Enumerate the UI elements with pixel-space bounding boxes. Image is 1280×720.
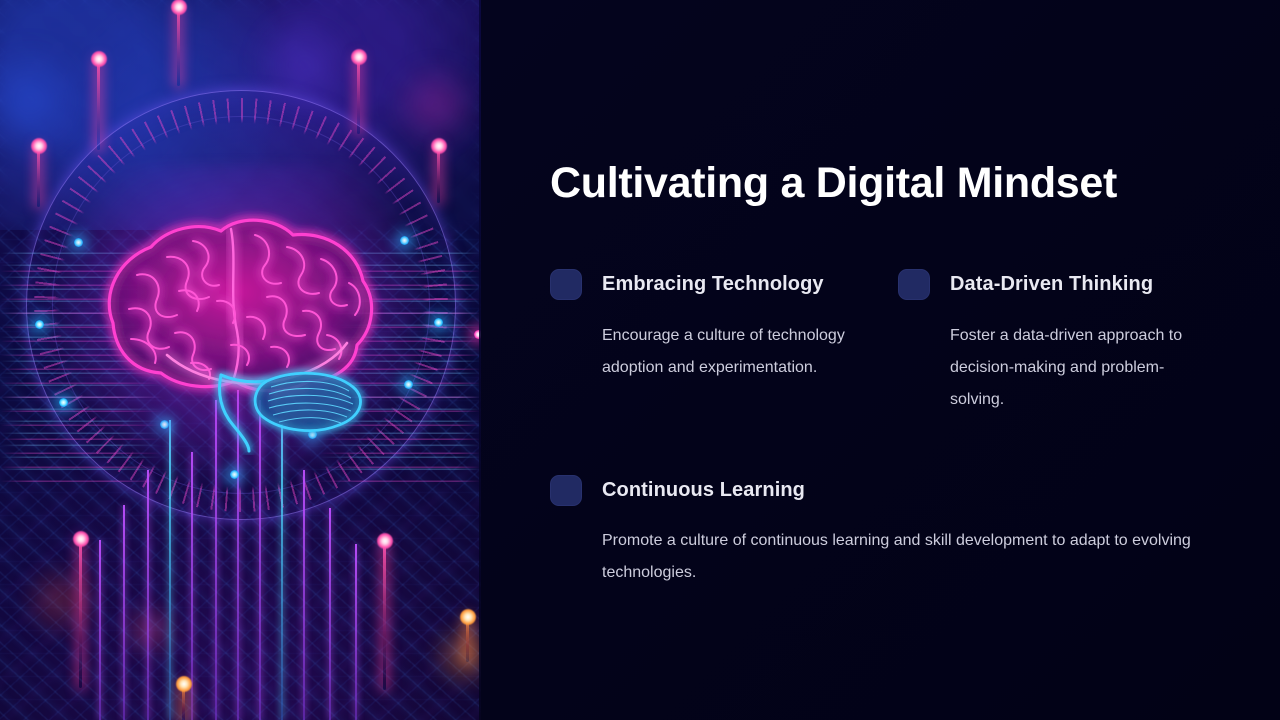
feature-card-data-driven-thinking[interactable]: Data-Driven Thinking Foster a data-drive… xyxy=(898,268,1214,416)
brain-illustration xyxy=(71,205,411,455)
card-header: Embracing Technology xyxy=(550,268,866,300)
light-pillar-warm xyxy=(466,616,469,662)
rounded-square-icon xyxy=(898,269,930,300)
feature-card-continuous-learning[interactable]: Continuous Learning Promote a culture of… xyxy=(550,474,1214,589)
card-header: Continuous Learning xyxy=(550,474,1214,506)
card-row-2: Continuous Learning Promote a culture of… xyxy=(550,474,1250,589)
light-pillar xyxy=(177,6,180,86)
card-title: Continuous Learning xyxy=(602,478,805,502)
card-header: Data-Driven Thinking xyxy=(898,268,1214,300)
slide: Cultivating a Digital Mindset Embracing … xyxy=(0,0,1280,720)
light-pillar xyxy=(383,540,386,690)
bokeh-blob xyxy=(20,560,100,640)
rounded-square-icon xyxy=(550,269,582,300)
feature-card-embracing-technology[interactable]: Embracing Technology Encourage a culture… xyxy=(550,268,866,416)
light-pillar xyxy=(79,538,82,688)
card-description: Promote a culture of continuous learning… xyxy=(602,525,1214,589)
card-title: Data-Driven Thinking xyxy=(950,272,1153,296)
brain-svg xyxy=(71,205,411,455)
page-title: Cultivating a Digital Mindset xyxy=(550,160,1117,207)
hero-image xyxy=(0,0,481,720)
light-pillar-warm xyxy=(182,683,185,720)
light-pillar xyxy=(357,56,360,134)
card-description: Foster a data-driven approach to decisio… xyxy=(950,320,1214,416)
card-title: Embracing Technology xyxy=(602,272,824,296)
card-row-1: Embracing Technology Encourage a culture… xyxy=(550,268,1250,416)
content-panel: Cultivating a Digital Mindset Embracing … xyxy=(481,0,1280,720)
bokeh-blob xyxy=(390,60,480,150)
light-pillar xyxy=(97,58,100,150)
feature-card-list: Embracing Technology Encourage a culture… xyxy=(550,268,1250,589)
card-description: Encourage a culture of technology adopti… xyxy=(602,320,866,384)
rounded-square-icon xyxy=(550,475,582,506)
